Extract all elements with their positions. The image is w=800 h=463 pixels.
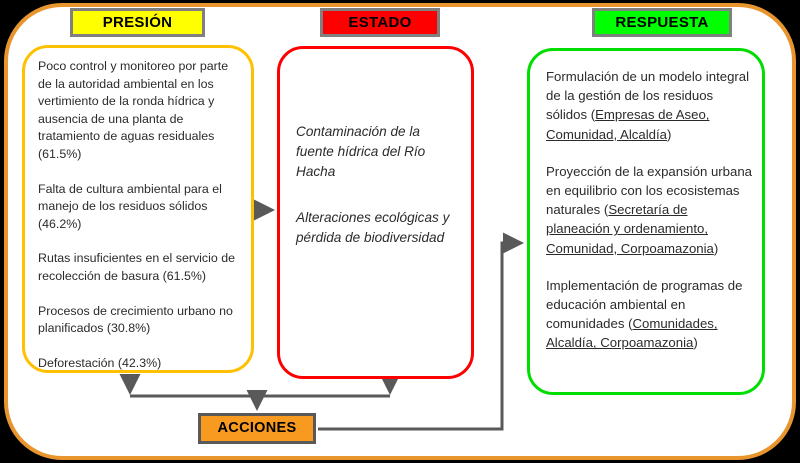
panel-estado: Contaminación de la fuente hídrica del R…	[277, 46, 474, 379]
presion-item-3: Rutas insuficientes en el servicio de re…	[38, 250, 239, 285]
respuesta-item-2: Proyección de la expansión urbana en equ…	[546, 162, 752, 258]
panel-presion-content: Poco control y monitoreo por parte de la…	[25, 48, 251, 372]
header-estado: ESTADO	[320, 8, 440, 37]
estado-item-2: Alteraciones ecológicas y pérdida de bio…	[296, 208, 461, 248]
panel-presion: Poco control y monitoreo por parte de la…	[22, 45, 254, 373]
panel-estado-content: Contaminación de la fuente hídrica del R…	[280, 49, 471, 248]
panel-respuesta-content: Formulación de un modelo integral de la …	[530, 51, 762, 353]
header-presion: PRESIÓN	[70, 8, 205, 37]
presion-item-4: Procesos de crecimiento urbano no planif…	[38, 303, 239, 338]
respuesta-item-3: Implementación de programas de educación…	[546, 276, 752, 353]
presion-item-5: Deforestación (42.3%)	[38, 355, 239, 373]
respuesta-item-1: Formulación de un modelo integral de la …	[546, 67, 752, 144]
respuesta-item-2-tail: )	[714, 241, 718, 256]
acciones-box: ACCIONES	[198, 413, 316, 444]
presion-item-2: Falta de cultura ambiental para el manej…	[38, 181, 239, 234]
estado-item-1: Contaminación de la fuente hídrica del R…	[296, 122, 461, 182]
respuesta-item-3-tail: )	[693, 335, 697, 350]
respuesta-item-1-tail: )	[667, 127, 671, 142]
diagram-canvas: PRESIÓN ESTADO RESPUESTA Poco control y …	[0, 0, 800, 463]
panel-respuesta: Formulación de un modelo integral de la …	[527, 48, 765, 395]
presion-item-1: Poco control y monitoreo por parte de la…	[38, 58, 239, 164]
header-respuesta: RESPUESTA	[592, 8, 732, 37]
